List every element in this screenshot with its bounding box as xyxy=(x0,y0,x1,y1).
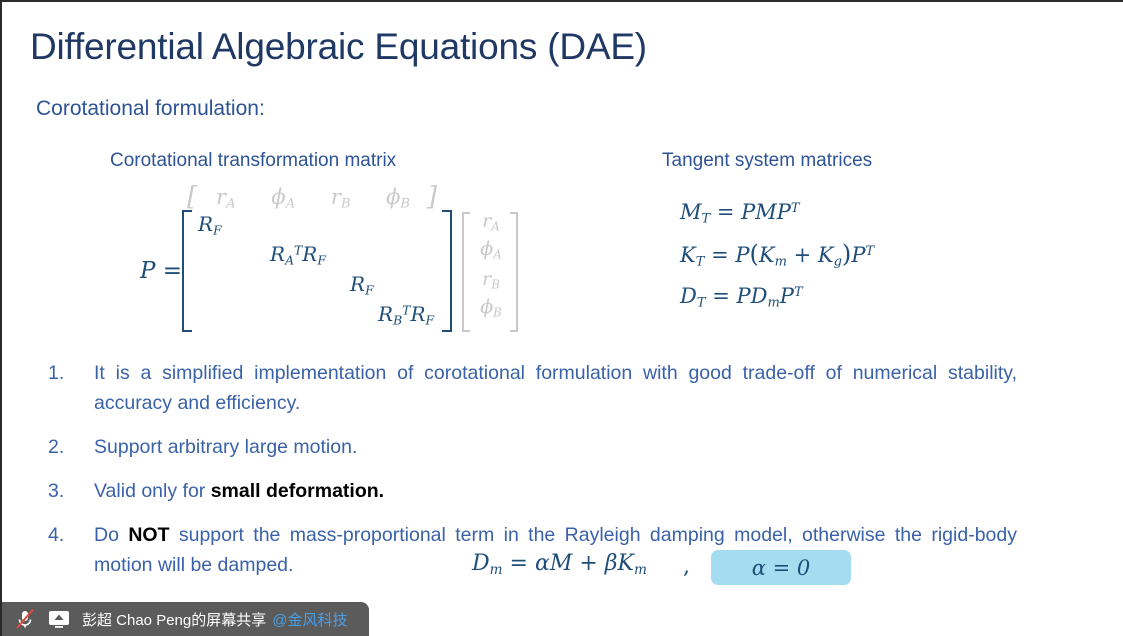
slide-subtitle: Corotational formulation: xyxy=(36,97,265,121)
matrix-entry-3: RF xyxy=(350,272,374,296)
alpha-highlight-box: α = 0 xyxy=(711,550,851,585)
column-label-phiB: ϕB xyxy=(369,185,426,209)
matrix-entry-4: RBTRF xyxy=(378,302,434,326)
list-item-text: Valid only for small deformation. xyxy=(94,480,384,502)
equation-damping-matrix: DT = PDmPT xyxy=(680,284,874,308)
list-item-number: 4. xyxy=(48,520,72,550)
list-item: 2. Support arbitrary large motion. xyxy=(42,432,1017,462)
vector-close-bracket xyxy=(510,212,518,332)
equation-stiffness-matrix: KT = P(Km + Kg)PT xyxy=(680,240,874,268)
damping-formula: Dm = αM + βKm xyxy=(472,551,647,576)
list-item-text: It is a simplified implementation of cor… xyxy=(94,362,1017,414)
column-labels-close-bracket: ] xyxy=(427,182,437,212)
list-item-number: 3. xyxy=(48,476,72,506)
slide-canvas: Differential Algebraic Equations (DAE) C… xyxy=(0,0,1123,636)
list-item-emphasis: NOT xyxy=(128,524,169,546)
column-label-phiA: ϕA xyxy=(255,185,312,209)
vector-entry-phiA: ϕA xyxy=(472,238,510,260)
list-item-emphasis: small deformation. xyxy=(211,480,384,502)
share-owner-label: 彭超 Chao Peng的屏幕共享 xyxy=(82,609,266,630)
list-item-number: 2. xyxy=(48,432,72,462)
column-label-rA: rA xyxy=(197,185,254,209)
vector-entry-rB: rB xyxy=(472,268,510,290)
column-label-rB: rB xyxy=(312,185,369,209)
list-item: 3. Valid only for small deformation. xyxy=(42,476,1017,506)
vector-open-bracket xyxy=(462,212,470,332)
caption-corotational-transformation-matrix: Corotational transformation matrix xyxy=(110,150,396,172)
alpha-value: α = 0 xyxy=(752,556,811,580)
screen-share-icon[interactable] xyxy=(46,608,72,630)
list-item-text: Support arbitrary large motion. xyxy=(94,436,357,458)
list-item-number: 1. xyxy=(48,358,72,388)
list-item: 1. It is a simplified implementation of … xyxy=(42,358,1017,418)
matrix-column-labels: [ rA ϕA rB ϕB ] xyxy=(187,182,437,212)
vector-entry-rA: rA xyxy=(472,210,510,232)
formula-separator: , xyxy=(683,554,690,579)
caption-tangent-system-matrices: Tangent system matrices xyxy=(662,150,872,172)
microphone-muted-icon[interactable] xyxy=(12,608,38,630)
vector-entry-phiB: ϕB xyxy=(472,296,510,318)
equation-mass-matrix: MT = PMPT xyxy=(680,200,874,224)
matrix-entry-2: RATRF xyxy=(270,242,326,266)
state-vector: rA ϕA rB ϕB xyxy=(462,212,518,332)
matrix-close-bracket xyxy=(442,210,452,332)
matrix-body: RF RATRF RF RBTRF xyxy=(182,210,452,332)
screen-share-status-bar: 彭超 Chao Peng的屏幕共享 @金风科技 xyxy=(2,602,369,636)
share-handle-label: @金风科技 xyxy=(272,609,347,630)
matrix-entry-1: RF xyxy=(198,212,222,236)
column-labels-open-bracket: [ xyxy=(187,182,197,212)
corotational-matrix-figure: [ rA ϕA rB ϕB ] P = RF RATRF RF RBTRF rA… xyxy=(132,182,532,337)
tangent-system-equations: MT = PMPT KT = P(Km + Kg)PT DT = PDmPT xyxy=(680,200,874,324)
matrix-lhs-label: P = xyxy=(140,258,182,284)
page-title: Differential Algebraic Equations (DAE) xyxy=(30,26,647,68)
matrix-open-bracket xyxy=(182,210,192,332)
